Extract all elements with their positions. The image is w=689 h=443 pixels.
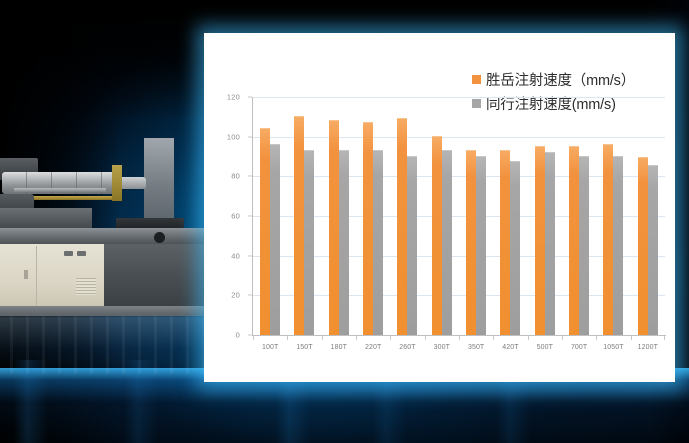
x-axis-category: 1050T [596, 336, 630, 364]
bar-group [562, 97, 596, 335]
bar-series-a[interactable] [397, 118, 407, 335]
bar-series-b[interactable] [510, 161, 520, 335]
machine-guide-rod [14, 188, 106, 192]
bar-group [528, 97, 562, 335]
bar-group [253, 97, 287, 335]
y-axis: 020406080100120 [218, 97, 244, 335]
bar-series-b[interactable] [373, 150, 383, 335]
x-axis-category: 500T [528, 336, 562, 364]
plot-area [253, 97, 665, 335]
x-axis-category: 220T [356, 336, 390, 364]
x-axis-categories: 100T150T180T220T260T300T350T420T500T700T… [253, 336, 665, 364]
machine-button-right [77, 251, 86, 256]
bar-series-b[interactable] [545, 152, 555, 335]
y-axis-tick-label: 100 [227, 132, 240, 141]
x-axis-tick-mark [664, 336, 665, 340]
x-axis-tick-label: 180T [322, 344, 356, 351]
x-axis-tick-mark [459, 336, 460, 340]
x-axis-tick-mark [322, 336, 323, 340]
bar-series-b[interactable] [407, 156, 417, 336]
x-axis-tick-label: 150T [287, 344, 321, 351]
machine-cabinet [0, 244, 105, 310]
machine-bed [0, 208, 92, 230]
x-axis-tick-label: 260T [390, 344, 424, 351]
x-axis-tick-label: 500T [528, 344, 562, 351]
chart-panel: 胜岳注射速度（mm/s） 同行注射速度(mm/s) 02040608010012… [204, 33, 675, 382]
bar-group [322, 97, 356, 335]
x-axis-category: 150T [287, 336, 321, 364]
bar-group [425, 97, 459, 335]
x-axis-tick-label: 700T [562, 344, 596, 351]
machine-clamp [112, 165, 122, 201]
injection-molding-machine-photo [0, 110, 224, 350]
machine-label [24, 270, 28, 279]
y-axis-tick-label: 0 [236, 331, 240, 340]
bar-series-b[interactable] [304, 150, 314, 335]
x-axis-tick-mark [596, 336, 597, 340]
machine-table [0, 228, 206, 244]
x-axis-tick-mark [528, 336, 529, 340]
bar-series-a[interactable] [466, 150, 476, 335]
bar-series-a[interactable] [294, 116, 304, 335]
machine-dark-panel [104, 244, 206, 306]
x-axis-tick-mark [253, 336, 254, 340]
x-axis-tick-label: 420T [493, 344, 527, 351]
bar-group [631, 97, 665, 335]
bar-series-b[interactable] [442, 150, 452, 335]
x-axis-tick-label: 1050T [596, 344, 630, 351]
x-axis-tick-mark [631, 336, 632, 340]
x-axis-tick-label: 100T [253, 344, 287, 351]
x-axis-tick-mark [562, 336, 563, 340]
x-axis-category: 1200T [631, 336, 665, 364]
machine-nozzle [120, 177, 146, 189]
x-axis-category: 260T [390, 336, 424, 364]
bar-series-b[interactable] [339, 150, 349, 335]
y-axis-tick-label: 20 [231, 291, 240, 300]
x-axis-category: 350T [459, 336, 493, 364]
bar-series-a[interactable] [432, 136, 442, 335]
bar-series-a[interactable] [535, 146, 545, 335]
x-axis-tick-label: 300T [425, 344, 459, 351]
machine-tie-bar [30, 196, 116, 200]
y-axis-tick-label: 120 [227, 93, 240, 102]
x-axis-category: 180T [322, 336, 356, 364]
machine-vent-grille [76, 278, 96, 295]
x-axis-tick-mark [493, 336, 494, 340]
slide-canvas: 胜岳注射速度（mm/s） 同行注射速度(mm/s) 02040608010012… [0, 0, 689, 443]
machine-knob [154, 232, 165, 243]
bar-series-container [253, 97, 665, 335]
bar-group [287, 97, 321, 335]
x-axis-category: 700T [562, 336, 596, 364]
bar-series-b[interactable] [648, 165, 658, 335]
y-axis-tick-label: 60 [231, 212, 240, 221]
legend-label-series-a: 胜岳注射速度（mm/s） [486, 69, 635, 90]
x-axis-tick-label: 1200T [631, 344, 665, 351]
machine-cabinet-seam [36, 246, 37, 308]
x-axis-tick-label: 220T [356, 344, 390, 351]
y-axis-tick-label: 80 [231, 172, 240, 181]
bar-series-a[interactable] [329, 120, 339, 335]
bar-series-a[interactable] [500, 150, 510, 335]
bar-series-a[interactable] [363, 122, 373, 335]
x-axis-tick-mark [356, 336, 357, 340]
bar-series-a[interactable] [260, 128, 270, 335]
bar-series-a[interactable] [638, 157, 648, 335]
y-axis-tick-label: 40 [231, 251, 240, 260]
machine-reflection-streaks [0, 316, 210, 374]
bar-series-b[interactable] [579, 156, 589, 336]
bar-group [596, 97, 630, 335]
bar-series-b[interactable] [613, 156, 623, 336]
x-axis-tick-mark [390, 336, 391, 340]
bar-group [459, 97, 493, 335]
bar-series-a[interactable] [569, 146, 579, 335]
legend-swatch-icon-series-a [472, 75, 481, 84]
x-axis-tick-mark [287, 336, 288, 340]
bar-series-b[interactable] [270, 144, 280, 335]
x-axis-category: 300T [425, 336, 459, 364]
machine-button-left [64, 251, 73, 256]
legend-item-series-a[interactable]: 胜岳注射速度（mm/s） [472, 67, 664, 91]
chart-plot-wrapper: 020406080100120 100T150T180T220T260T300T… [218, 97, 666, 382]
x-axis-category: 420T [493, 336, 527, 364]
bar-series-a[interactable] [603, 144, 613, 335]
x-axis-tick-mark [425, 336, 426, 340]
bar-group [493, 97, 527, 335]
x-axis-category: 100T [253, 336, 287, 364]
bar-group [390, 97, 424, 335]
bar-group [356, 97, 390, 335]
bar-series-b[interactable] [476, 156, 486, 336]
machine-base [0, 306, 208, 316]
x-axis-tick-label: 350T [459, 344, 493, 351]
